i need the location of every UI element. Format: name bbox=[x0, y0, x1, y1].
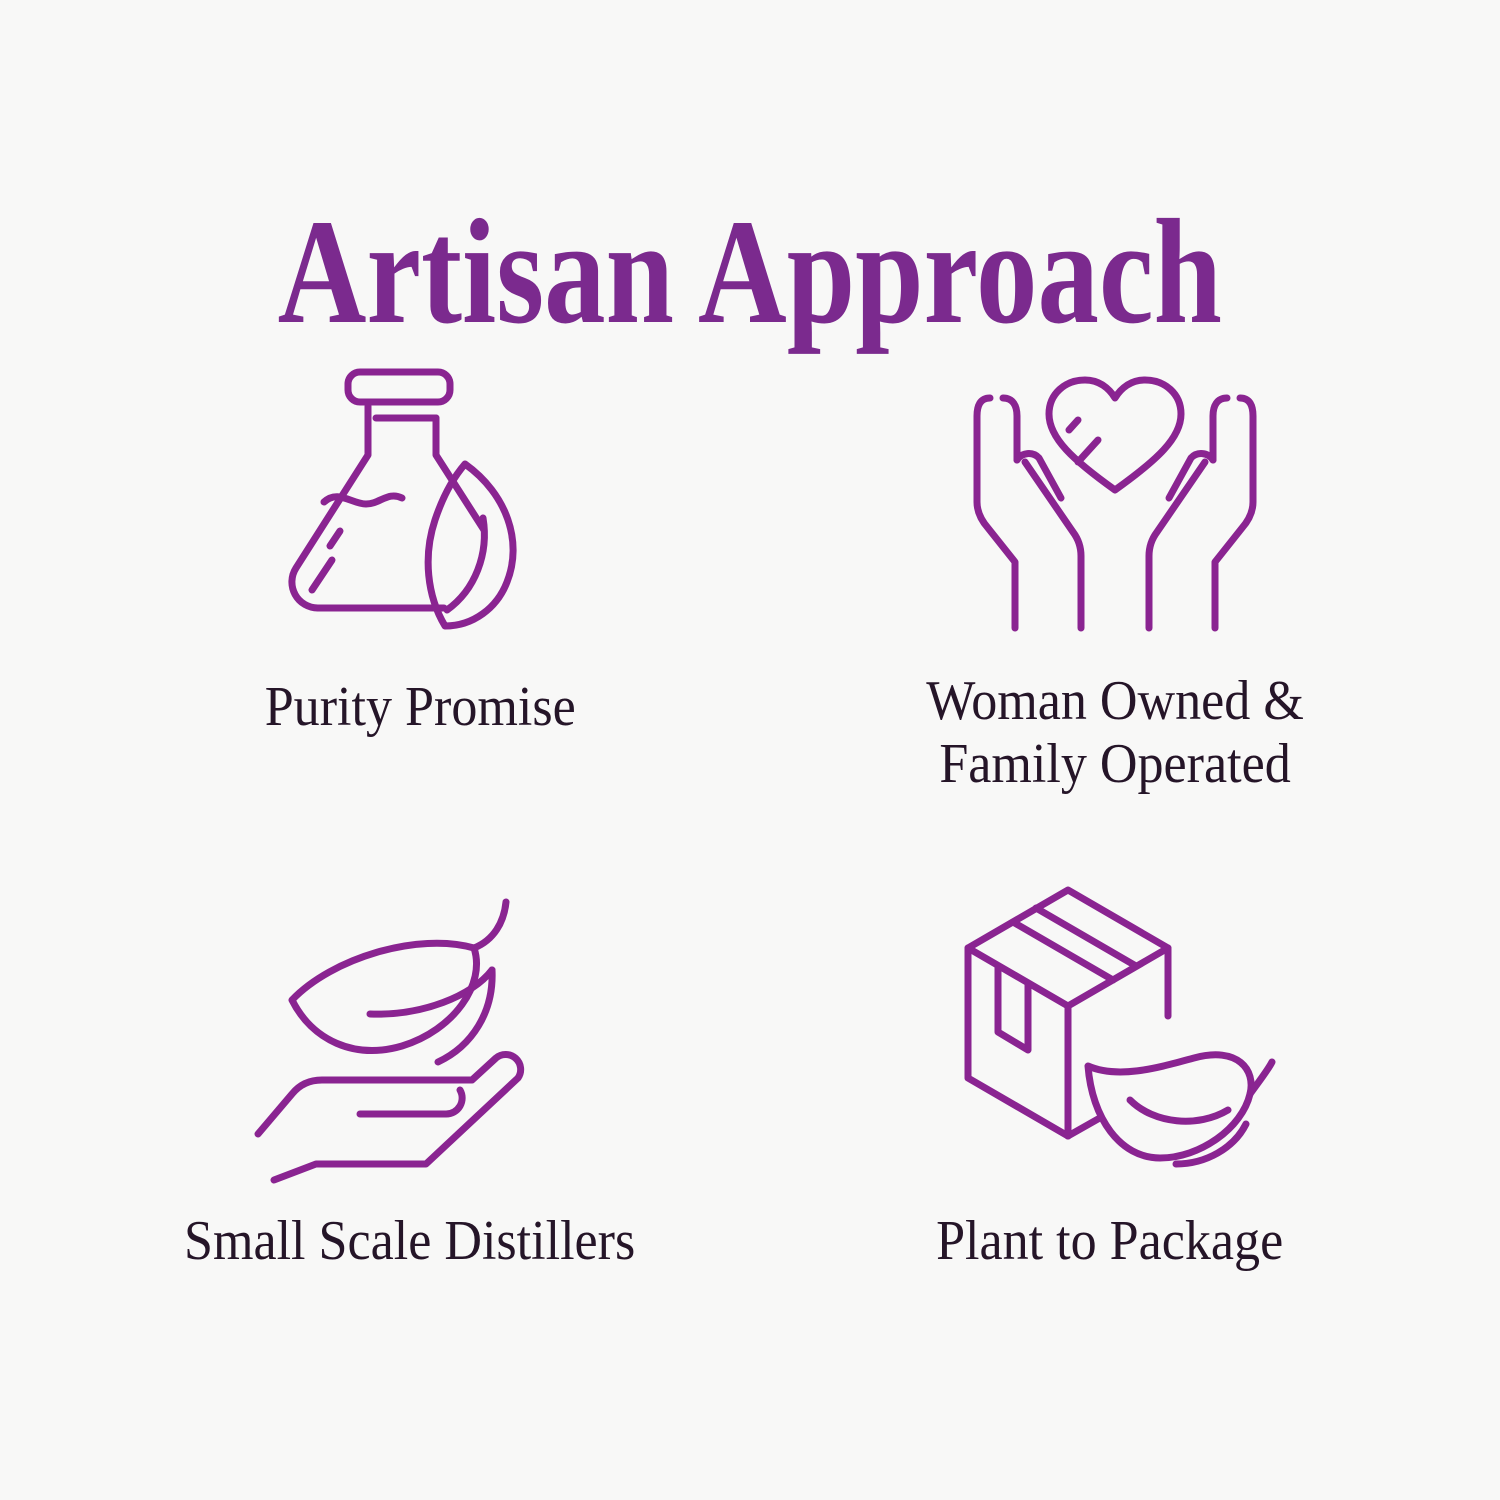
feature-item-woman-owned: Woman Owned & Family Operated bbox=[750, 350, 1440, 880]
leaf-in-hand-icon bbox=[250, 880, 570, 1180]
feature-item-plant-to-package: Plant to Package bbox=[750, 880, 1440, 1410]
feature-item-small-scale-distillers: Small Scale Distillers bbox=[60, 880, 750, 1410]
feature-grid: Purity Promise bbox=[60, 350, 1440, 1410]
flask-leaf-icon bbox=[260, 350, 580, 650]
feature-label: Woman Owned & Family Operated bbox=[926, 670, 1304, 795]
feature-label: Plant to Package bbox=[936, 1210, 1283, 1273]
box-leaf-icon bbox=[950, 880, 1270, 1180]
box-leaf-icon-container bbox=[950, 880, 1270, 1180]
feature-label: Small Scale Distillers bbox=[184, 1210, 635, 1273]
artisan-approach-infographic: Artisan Approach bbox=[0, 0, 1500, 1500]
page-title: Artisan Approach bbox=[278, 197, 1222, 347]
hands-holding-heart-icon bbox=[955, 350, 1275, 650]
feature-label: Purity Promise bbox=[264, 676, 575, 739]
flask-leaf-icon-container bbox=[260, 350, 580, 650]
leaf-in-hand-icon-container bbox=[250, 880, 570, 1180]
feature-item-purity-promise: Purity Promise bbox=[60, 350, 750, 880]
hands-holding-heart-icon-container bbox=[955, 350, 1275, 650]
